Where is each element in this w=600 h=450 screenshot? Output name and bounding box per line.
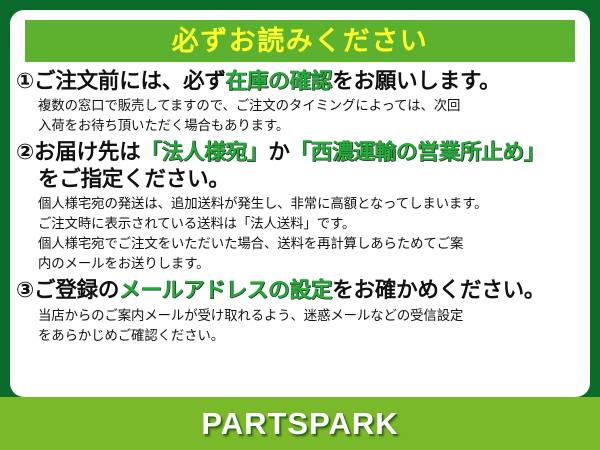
notice-item-detail: 当店からのご案内メールが受け取れるよう、迷惑メールなどの受信設定 xyxy=(16,306,584,325)
heading-highlight: 在庫の確認 xyxy=(226,69,333,93)
notice-item-detail: 入荷をお待ち頂いただく場合もあります。 xyxy=(16,116,584,135)
notice-item: ③ご登録のメールアドレスの設定をお確かめください。当店からのご案内メールが受け取… xyxy=(16,277,584,344)
heading-text: ご注文前には、必ず xyxy=(34,69,226,93)
notice-item-heading: ③ご登録のメールアドレスの設定をお確かめください。 xyxy=(16,277,584,304)
notice-item-detail: 個人様宅宛の発送は、追加送料が発生し、非常に高額となってしまいます。 xyxy=(16,194,584,213)
notice-item-marker: ② xyxy=(16,140,34,164)
notice-item-detail: 個人様宅宛でご注文をいただいた場合、送料を再計算しあらためてご案 xyxy=(16,234,584,253)
notice-list: ①ご注文前には、必ず在庫の確認をお願いします。複数の窓口で販売してますので、ご注… xyxy=(10,68,590,349)
heading-highlight: 「西濃運輸の営業所止め」 xyxy=(290,140,546,164)
brand-name: PARTSPARK xyxy=(201,408,398,439)
heading-text: ご登録の xyxy=(34,278,119,302)
notice-item: ①ご注文前には、必ず在庫の確認をお願いします。複数の窓口で販売してますので、ご注… xyxy=(16,68,584,135)
heading-text: か xyxy=(268,140,289,164)
heading-text: をご指定ください。 xyxy=(38,167,230,191)
notice-item-heading: ①ご注文前には、必ず在庫の確認をお願いします。 xyxy=(16,68,584,95)
notice-item-detail: 複数の窓口で販売してますので、ご注文のタイミングによっては、次回 xyxy=(16,96,584,115)
notice-banner: 必ずお読みください ①ご注文前には、必ず在庫の確認をお願いします。複数の窓口で販… xyxy=(0,0,600,450)
banner-title: 必ずお読みください xyxy=(172,28,429,55)
heading-highlight: 「法人様宛」 xyxy=(141,140,269,164)
notice-item-detail: ご注文時に表示されている送料は「法人送料」です。 xyxy=(16,214,584,233)
notice-item-heading: をご指定ください。 xyxy=(16,166,584,193)
notice-item-heading: ②お届け先は「法人様宛」か「西濃運輸の営業所止め」 xyxy=(16,139,584,166)
heading-highlight: メールアドレスの設定 xyxy=(119,278,332,302)
notice-item-detail: 内のメールをお送りします。 xyxy=(16,254,584,273)
content-panel: 必ずお読みください ①ご注文前には、必ず在庫の確認をお願いします。複数の窓口で販… xyxy=(10,10,590,397)
notice-item-marker: ③ xyxy=(16,278,34,302)
heading-text: をお願いします。 xyxy=(332,69,500,93)
notice-item-marker: ① xyxy=(16,69,34,93)
notice-item: ②お届け先は「法人様宛」か「西濃運輸の営業所止め」をご指定ください。個人様宅宛の… xyxy=(16,139,584,273)
footer-bar: PARTSPARK xyxy=(0,397,600,450)
notice-item-detail: をあらかじめご確認ください。 xyxy=(16,326,584,345)
heading-text: お届け先は xyxy=(34,140,141,164)
title-bar: 必ずお読みください xyxy=(25,20,575,62)
heading-text: をお確かめください。 xyxy=(332,278,545,302)
